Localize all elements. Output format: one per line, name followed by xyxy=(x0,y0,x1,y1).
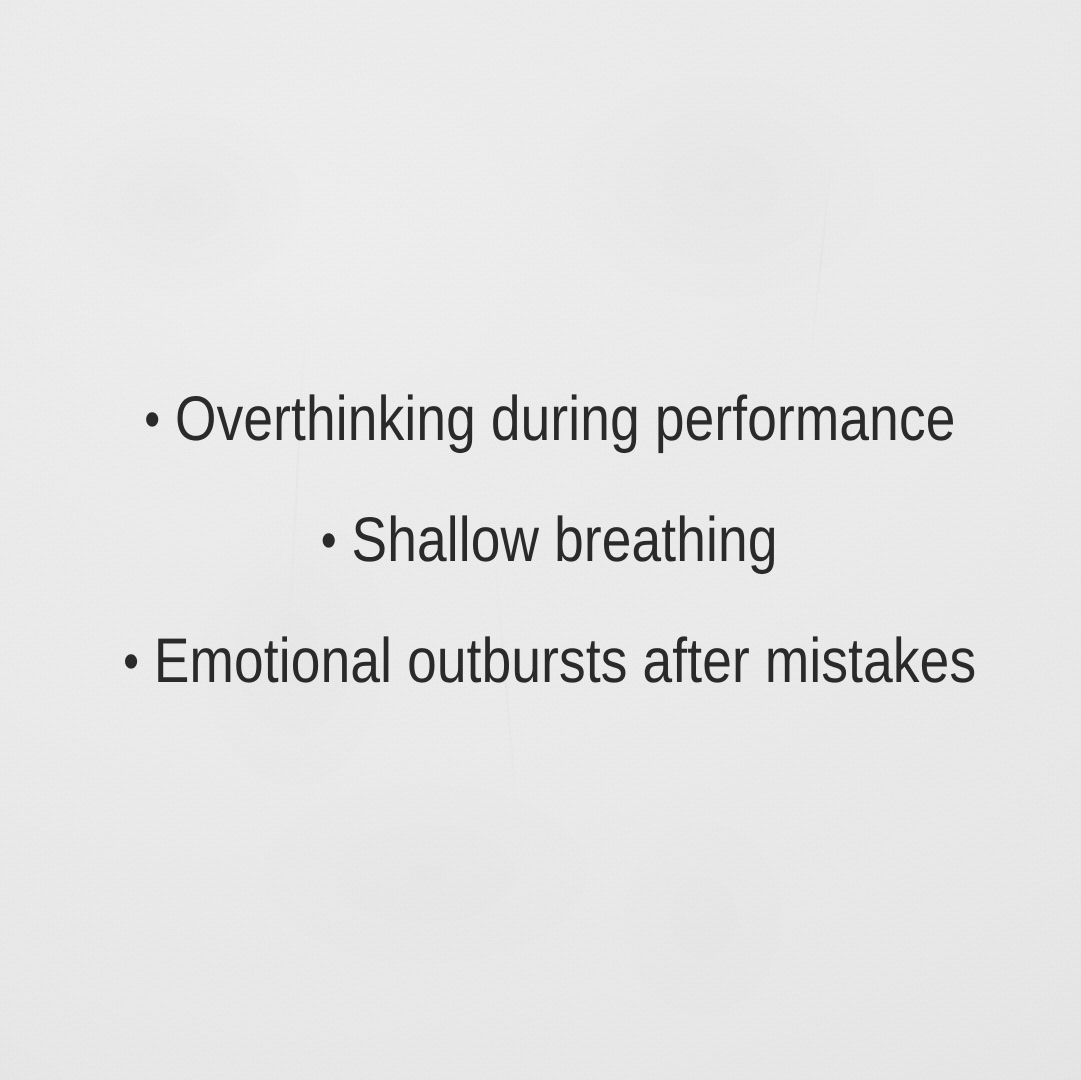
bullet-point-icon: • xyxy=(144,389,160,448)
bullet-point-icon: • xyxy=(123,632,139,691)
list-item: • Overthinking during performance xyxy=(144,387,955,451)
list-item-label: Overthinking during performance xyxy=(175,384,956,454)
list-item: • Emotional outbursts after mistakes xyxy=(123,629,976,693)
bullet-list: • Overthinking during performance • Shal… xyxy=(0,0,1081,1080)
slide-canvas: • Overthinking during performance • Shal… xyxy=(0,0,1081,1080)
bullet-point-icon: • xyxy=(321,511,337,570)
list-item-label: Shallow breathing xyxy=(352,505,778,575)
list-item-label: Emotional outbursts after mistakes xyxy=(154,626,976,696)
list-item: • Shallow breathing xyxy=(321,508,778,572)
